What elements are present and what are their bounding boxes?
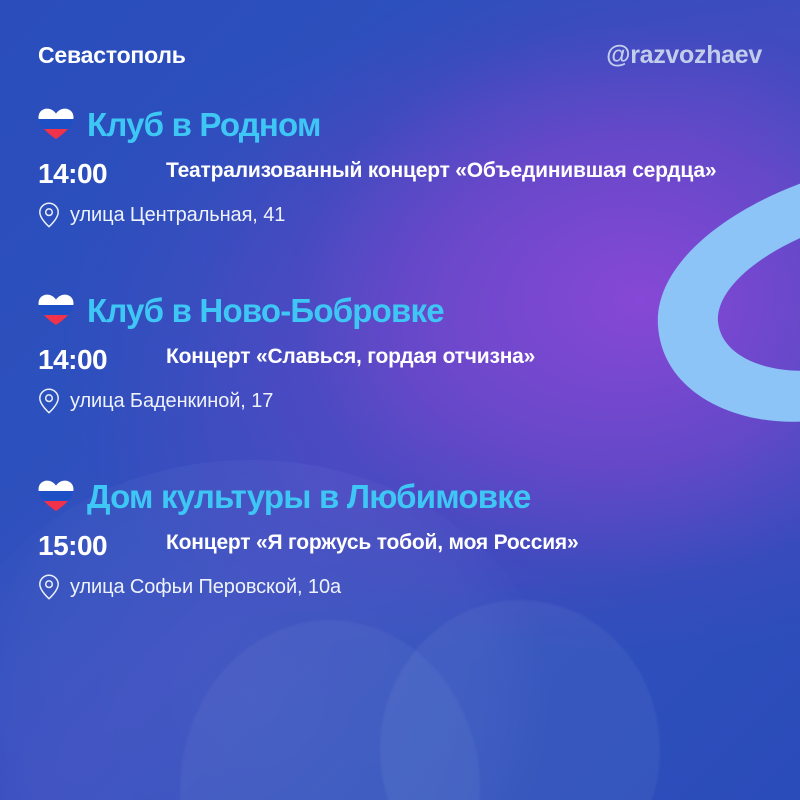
heart-flag-icon (38, 480, 74, 512)
event-description: Концерт «Славься, гордая отчизна» (166, 343, 535, 371)
venue-row: Клуб в Родном (38, 104, 800, 144)
page-title: Севастополь (38, 42, 186, 69)
events-list: Клуб в Родном 14:00 Театрализованный кон… (0, 104, 800, 662)
header: Севастополь @razvozhaev (0, 36, 800, 74)
location-pin-icon (38, 202, 60, 228)
address-row: улица Баденкиной, 17 (38, 388, 800, 414)
venue-name: Клуб в Родном (87, 108, 321, 141)
event-description: Театрализованный концерт «Объединившая с… (166, 157, 716, 185)
location-pin-icon (38, 388, 60, 414)
social-handle: @razvozhaev (606, 41, 762, 70)
event-item: Клуб в Родном 14:00 Театрализованный кон… (0, 104, 800, 228)
venue-row: Клуб в Ново-Бобровке (38, 290, 800, 330)
venue-name: Клуб в Ново-Бобровке (87, 294, 444, 327)
location-pin-icon (38, 574, 60, 600)
address-row: улица Софьи Перовской, 10а (38, 574, 800, 600)
time-row: 14:00 Театрализованный концерт «Объедини… (38, 157, 800, 190)
event-address: улица Баденкиной, 17 (70, 390, 273, 413)
venue-row: Дом культуры в Любимовке (38, 476, 800, 516)
heart-flag-icon (38, 294, 74, 326)
event-poster: Севастополь @razvozhaev (0, 0, 800, 800)
event-item: Клуб в Ново-Бобровке 14:00 Концерт «Слав… (0, 290, 800, 414)
event-item: Дом культуры в Любимовке 15:00 Концерт «… (0, 476, 800, 600)
event-description: Концерт «Я горжусь тобой, моя Россия» (166, 529, 578, 557)
event-address: улица Центральная, 41 (70, 204, 285, 227)
address-row: улица Центральная, 41 (38, 202, 800, 228)
event-address: улица Софьи Перовской, 10а (70, 576, 341, 599)
time-row: 15:00 Концерт «Я горжусь тобой, моя Росс… (38, 529, 800, 562)
event-time: 14:00 (38, 343, 166, 376)
time-row: 14:00 Концерт «Славься, гордая отчизна» (38, 343, 800, 376)
event-time: 15:00 (38, 529, 166, 562)
venue-name: Дом культуры в Любимовке (87, 480, 531, 513)
event-time: 14:00 (38, 157, 166, 190)
heart-flag-icon (38, 108, 74, 140)
